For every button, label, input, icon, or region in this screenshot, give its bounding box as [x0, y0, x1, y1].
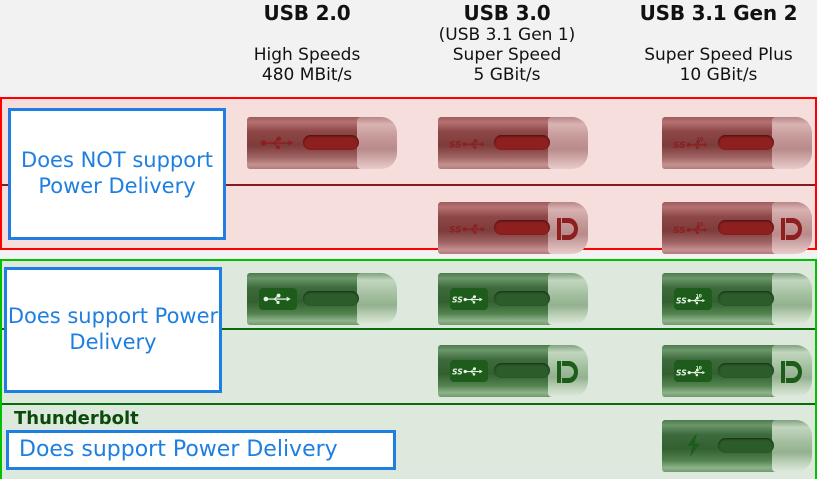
connector-cell: SS: [438, 113, 588, 173]
connector-cell: SS 10: [662, 113, 812, 173]
column-header-rate: 10 GBit/s: [620, 65, 817, 85]
connector-slot: [718, 220, 774, 235]
usb-c-connector: SS 10: [662, 345, 812, 397]
connector-slot: [718, 135, 774, 150]
usb-power-delivery-comparison-chart: USB 2.0 High Speeds 480 MBit/s USB 3.0 (…: [0, 0, 817, 479]
power-delivery-glyph: [780, 360, 802, 384]
svg-text:SS: SS: [452, 295, 463, 304]
connector-cap: [548, 117, 588, 169]
usb-c-connector: SS: [438, 273, 588, 325]
svg-text:SS: SS: [449, 140, 462, 150]
usb-c-connector: SS: [438, 345, 588, 397]
usb-trident-icon: [257, 131, 299, 155]
connector-cap: [548, 273, 588, 325]
usb-superspeed-10-glyph: SS 10: [673, 134, 713, 153]
connector-cap: [772, 420, 812, 472]
usb-c-connector: [247, 117, 397, 169]
column-header-speed-name: High Speeds: [212, 45, 402, 65]
svg-text:SS: SS: [673, 226, 686, 236]
power-delivery-glyph: [780, 217, 802, 241]
power-delivery-glyph: [556, 217, 578, 241]
connector-slot: [494, 291, 550, 306]
usb-c-connector: [247, 273, 397, 325]
connector-cell: SS 10: [662, 341, 812, 401]
svg-text:SS: SS: [452, 367, 463, 376]
column-header-speed-name: Super Speed: [412, 45, 602, 65]
column-header-usb-3-1-gen-2: USB 3.1 Gen 2 Super Speed Plus 10 GBit/s: [620, 2, 817, 86]
connector-cell: SS: [438, 269, 588, 329]
column-header-speed-name: Super Speed Plus: [620, 45, 817, 65]
svg-text:SS: SS: [676, 296, 687, 305]
svg-text:SS: SS: [673, 141, 686, 151]
usb-superspeed-icon: SS: [448, 359, 490, 383]
connector-slot: [494, 363, 550, 378]
column-header-usb-2-0: USB 2.0 High Speeds 480 MBit/s: [212, 2, 402, 86]
column-header-rate: 480 MBit/s: [212, 65, 402, 85]
thunderbolt-glyph: [684, 432, 704, 458]
usb-superspeed-10-icon: SS 10: [672, 287, 714, 311]
connector-cell: SS 10: [662, 198, 812, 258]
usb-c-connector: [662, 420, 812, 472]
callout-does-not-support-power-delivery: Does NOT support Power Delivery: [8, 108, 226, 240]
usb-superspeed-10-icon: SS 10: [672, 359, 714, 383]
column-header-usb-3-0: USB 3.0 (USB 3.1 Gen 1) Super Speed 5 GB…: [412, 2, 602, 86]
usb-superspeed-10-glyph: SS 10: [676, 364, 710, 379]
usb-superspeed-icon: SS: [448, 131, 490, 155]
connector-cell: SS: [438, 341, 588, 401]
usb-superspeed-icon: SS: [448, 216, 490, 240]
connector-cap: [772, 117, 812, 169]
svg-text:SS: SS: [676, 368, 687, 377]
column-header-name: USB 3.0: [412, 2, 602, 24]
connector-cell: [247, 113, 397, 173]
column-header-name: USB 2.0: [212, 2, 402, 24]
column-header-row: USB 2.0 High Speeds 480 MBit/s USB 3.0 (…: [0, 0, 817, 98]
power-delivery-glyph: [556, 360, 578, 384]
usb-trident-glyph: [263, 292, 293, 306]
usb-trident-glyph: [260, 135, 296, 151]
power-delivery-icon: [556, 217, 578, 241]
connector-slot: [494, 135, 550, 150]
usb-c-connector: SS 10: [662, 117, 812, 169]
connector-slot: [718, 363, 774, 378]
power-delivery-icon: [780, 217, 802, 241]
thunderbolt-bolt-icon: [684, 432, 706, 460]
usb-c-connector: SS: [438, 202, 588, 254]
usb-superspeed-glyph: SS: [449, 135, 489, 152]
usb-superspeed-glyph: SS: [452, 364, 486, 378]
connector-cap: [357, 273, 397, 325]
usb-superspeed-icon: SS: [448, 287, 490, 311]
connector-cell: [247, 269, 397, 329]
usb-superspeed-glyph: SS: [449, 220, 489, 237]
connector-slot: [303, 135, 359, 150]
power-delivery-icon: [556, 360, 578, 384]
power-delivery-icon: [780, 360, 802, 384]
connector-cell-thunderbolt: [662, 416, 812, 476]
usb-superspeed-10-icon: SS 10: [672, 131, 714, 155]
connector-slot: [494, 220, 550, 235]
connector-cell: SS: [438, 198, 588, 258]
usb-superspeed-glyph: SS: [452, 292, 486, 306]
usb-c-connector: SS: [438, 117, 588, 169]
column-header-name: USB 3.1 Gen 2: [620, 2, 817, 24]
connector-cap: [772, 273, 812, 325]
callout-does-support-power-delivery: Does support Power Delivery: [4, 267, 222, 393]
usb-superspeed-10-icon: SS 10: [672, 216, 714, 240]
usb-trident-icon: [257, 287, 299, 311]
callout-thunderbolt-supports-power-delivery: Does support Power Delivery: [6, 430, 396, 470]
usb-c-connector: SS 10: [662, 273, 812, 325]
connector-cell: SS 10: [662, 269, 812, 329]
usb-c-connector: SS 10: [662, 202, 812, 254]
usb-superspeed-10-glyph: SS 10: [676, 292, 710, 307]
thunderbolt-label: Thunderbolt: [14, 408, 139, 429]
connector-slot: [718, 438, 774, 453]
column-header-rate: 5 GBit/s: [412, 65, 602, 85]
usb-superspeed-10-glyph: SS 10: [673, 219, 713, 238]
svg-text:SS: SS: [449, 225, 462, 235]
connector-slot: [303, 291, 359, 306]
connector-cap: [357, 117, 397, 169]
connector-slot: [718, 291, 774, 306]
column-header-alt-name: (USB 3.1 Gen 1): [412, 25, 602, 45]
